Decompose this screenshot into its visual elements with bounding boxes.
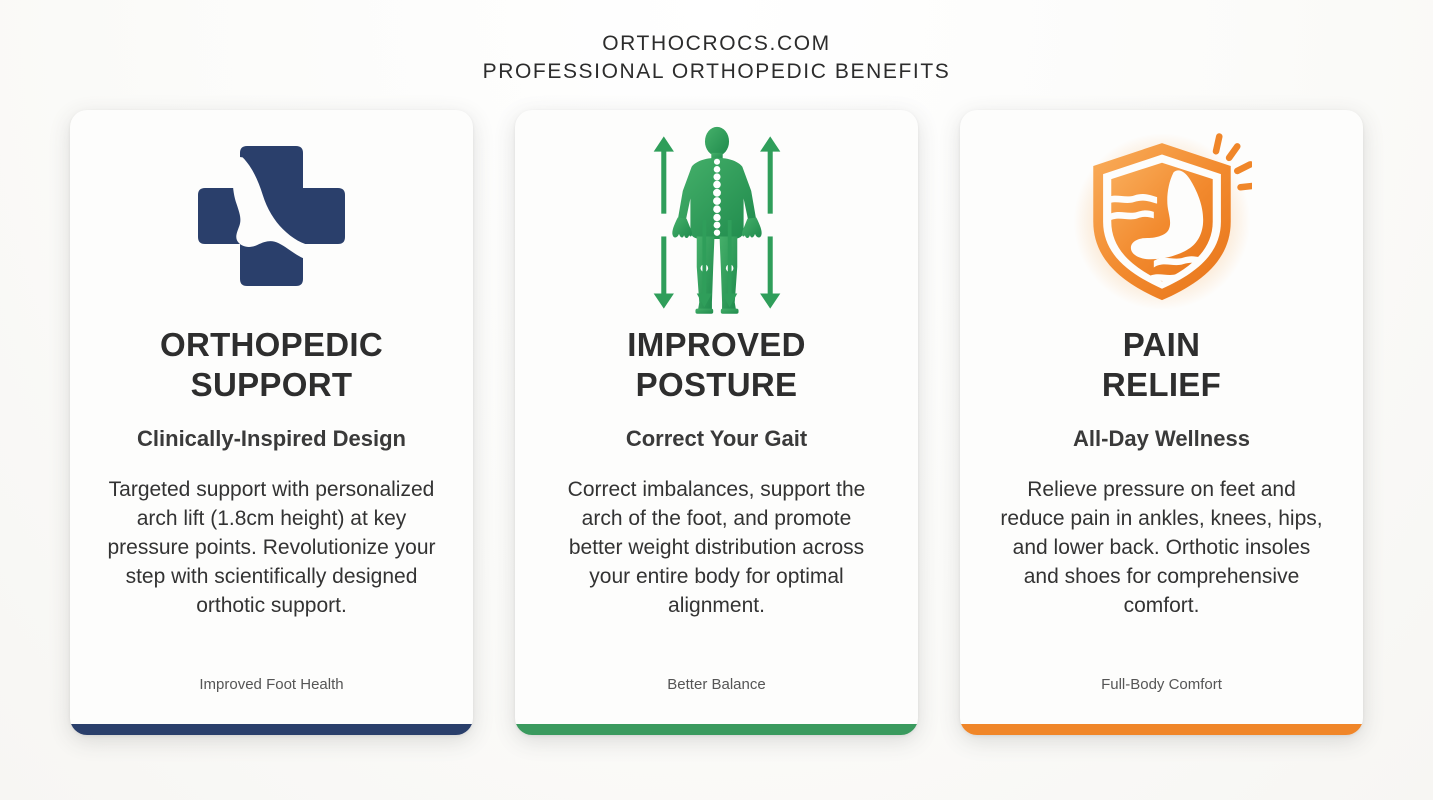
card-title-line2: RELIEF [1102,366,1221,403]
page-background: ORTHOCROCS.COM PROFESSIONAL ORTHOPEDIC B… [0,0,1433,800]
shield-foot-protection-icon [960,110,1363,325]
card-title-line1: ORTHOPEDIC [160,326,383,363]
card-body-text: Relieve pressure on feet and reduce pain… [997,475,1327,620]
card-footnote: Better Balance [515,676,918,693]
card-title: PAIN RELIEF [1102,325,1221,405]
card-accent-bar [960,724,1363,735]
card-title-line2: SUPPORT [191,366,353,403]
card-title-line2: POSTURE [636,366,798,403]
card-title-line1: IMPROVED [627,326,805,363]
card-title-line1: PAIN [1123,326,1201,363]
brand-name: ORTHOCROCS.COM [0,30,1433,58]
page-header: ORTHOCROCS.COM PROFESSIONAL ORTHOPEDIC B… [0,30,1433,86]
benefit-card-orthopedic-support[interactable]: ORTHOPEDIC SUPPORT Clinically-Inspired D… [70,110,473,735]
card-title: ORTHOPEDIC SUPPORT [160,325,383,405]
card-body-text: Correct imbalances, support the arch of … [558,475,876,620]
page-tagline: PROFESSIONAL ORTHOPEDIC BENEFITS [0,58,1433,86]
card-title: IMPROVED POSTURE [627,325,805,405]
card-subtitle: All-Day Wellness [1073,425,1250,453]
card-subtitle: Correct Your Gait [626,425,807,453]
card-footnote: Improved Foot Health [70,676,473,693]
medical-cross-foot-icon [70,110,473,325]
card-footnote: Full-Body Comfort [960,676,1363,693]
card-body-text: Targeted support with personalized arch … [107,475,437,620]
card-accent-bar [70,724,473,735]
posture-body-alignment-icon [515,110,918,325]
benefit-card-pain-relief[interactable]: PAIN RELIEF All-Day Wellness Relieve pre… [960,110,1363,735]
benefit-card-row: ORTHOPEDIC SUPPORT Clinically-Inspired D… [70,110,1363,735]
card-subtitle: Clinically-Inspired Design [137,425,406,453]
benefit-card-improved-posture[interactable]: IMPROVED POSTURE Correct Your Gait Corre… [515,110,918,735]
card-accent-bar [515,724,918,735]
